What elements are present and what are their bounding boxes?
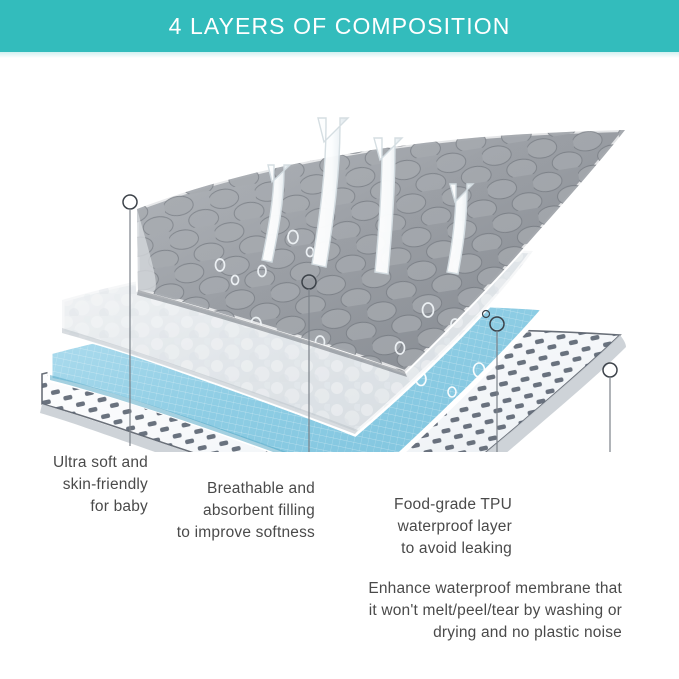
callout-4 (603, 363, 617, 452)
caption-tpu-waterproof: Food-grade TPU waterproof layer to avoid… (330, 494, 512, 560)
infographic-root: 4 LAYERS OF COMPOSITION (0, 0, 679, 679)
caption-breathable-filling: Breathable and absorbent filling to impr… (140, 478, 315, 544)
caption-ultra-soft: Ultra soft and skin-friendly for baby (0, 452, 148, 518)
layer-illustration (0, 52, 679, 452)
caption-waterproof-membrane: Enhance waterproof membrane that it won'… (290, 578, 622, 644)
layer-stack-svg (0, 52, 679, 452)
page-title: 4 LAYERS OF COMPOSITION (169, 13, 511, 40)
header-band: 4 LAYERS OF COMPOSITION (0, 0, 679, 52)
